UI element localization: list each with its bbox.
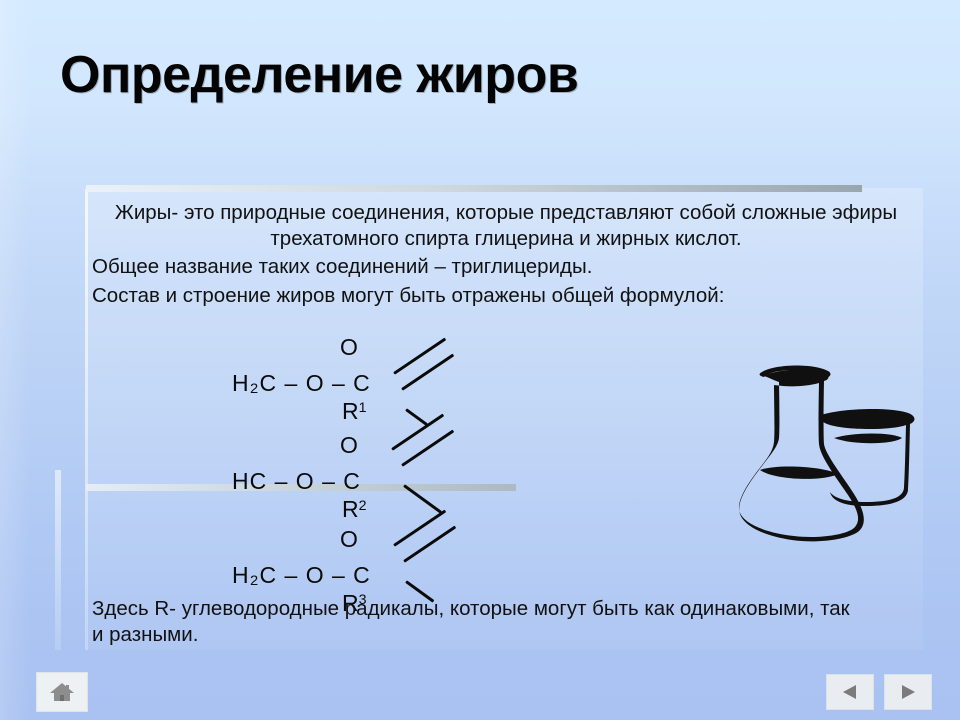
formula-radical-1-index: 1 bbox=[359, 400, 367, 416]
formula-radical-1: R1 bbox=[342, 398, 367, 425]
left-light-band bbox=[0, 0, 30, 720]
triangle-left-icon bbox=[840, 683, 860, 701]
home-button[interactable] bbox=[36, 672, 88, 712]
formula-radical-2: R2 bbox=[342, 496, 367, 523]
decorative-bar-left-vertical bbox=[55, 470, 61, 650]
triangle-right-icon bbox=[898, 683, 918, 701]
body-paragraph-3: Состав и строение жиров могут быть отраж… bbox=[92, 283, 920, 309]
body-paragraph-1: Жиры- это природные соединения, которые … bbox=[92, 200, 920, 252]
closing-paragraph: Здесь R- углеводородные радикалы, которы… bbox=[92, 596, 852, 648]
double-bond-1 bbox=[392, 344, 482, 404]
formula-oxygen-2: O bbox=[340, 432, 358, 459]
double-bond-2 bbox=[390, 436, 490, 506]
page-title: Определение жиров bbox=[60, 45, 578, 105]
body-text-block: Жиры- это природные соединения, которые … bbox=[92, 200, 920, 312]
formula-chain-3: H₂C – O – C bbox=[232, 562, 371, 589]
formula-chain-1: H₂C – O – C bbox=[232, 370, 371, 397]
double-bond-3 bbox=[392, 532, 492, 602]
decorative-bar-top bbox=[86, 185, 862, 192]
content-panel-left-edge bbox=[85, 190, 88, 650]
home-icon bbox=[48, 680, 76, 704]
chemistry-flask-icon bbox=[726, 358, 938, 573]
formula-oxygen-1: O bbox=[340, 334, 358, 361]
formula-radical-2-letter: R bbox=[342, 496, 359, 522]
slide: Определение жиров Жиры- это природные со… bbox=[0, 0, 960, 720]
closing-text-block: Здесь R- углеводородные радикалы, которы… bbox=[92, 596, 852, 648]
formula-radical-1-letter: R bbox=[342, 398, 359, 424]
formula-oxygen-3: O bbox=[340, 526, 358, 553]
previous-slide-button[interactable] bbox=[826, 674, 874, 710]
structural-formula: O H₂C – O – C R1 O HC – O – C R2 O H₂C –… bbox=[92, 336, 652, 598]
next-slide-button[interactable] bbox=[884, 674, 932, 710]
formula-radical-2-index: 2 bbox=[359, 498, 367, 514]
body-paragraph-2: Общее название таких соединений – тригли… bbox=[92, 254, 920, 280]
formula-chain-2: HC – O – C bbox=[232, 468, 361, 495]
